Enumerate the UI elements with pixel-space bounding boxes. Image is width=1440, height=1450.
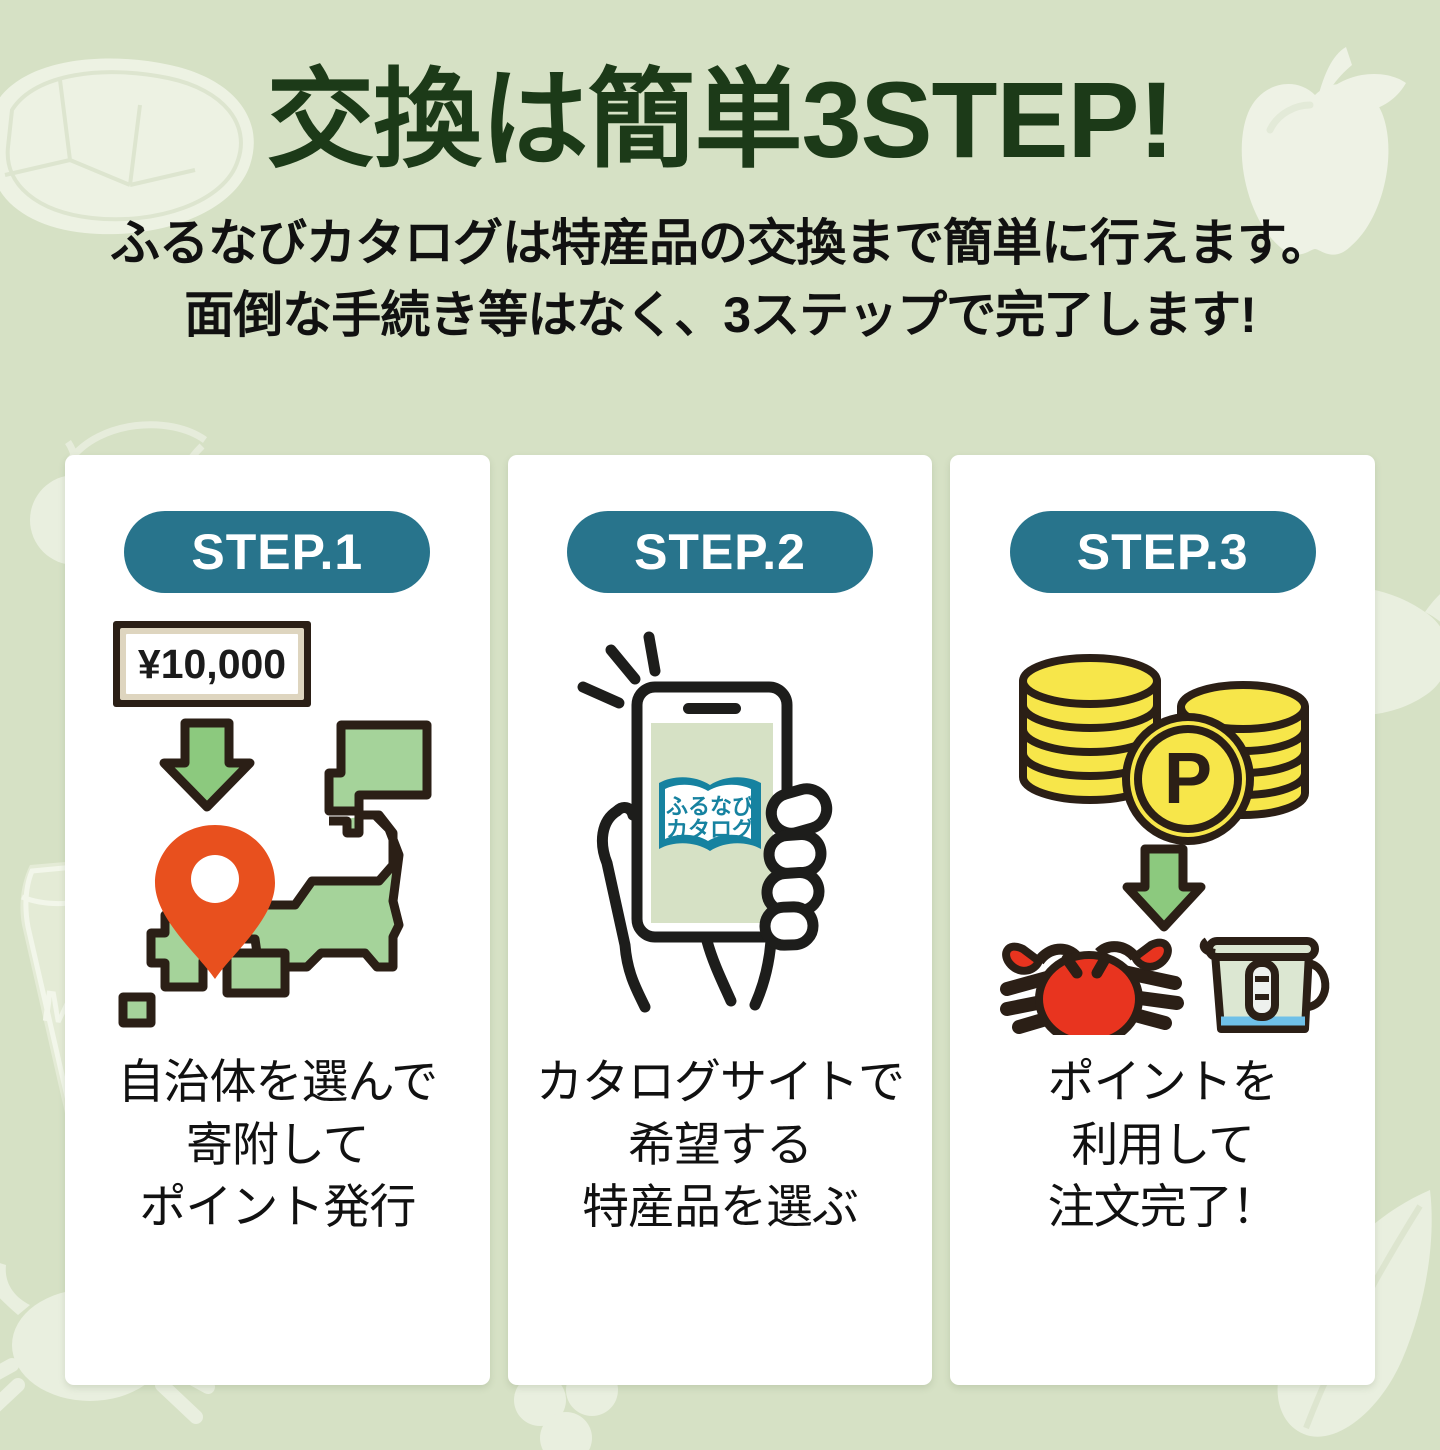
step-2-caption-line-1: カタログサイトで [536,1051,904,1114]
logo-line-2: カタログ [666,817,754,842]
crab-icon [1006,943,1177,1035]
page-title: 交換は簡単3STEP! [0,62,1440,179]
step-2-caption-line-3: 特産品を選ぶ [536,1176,904,1239]
step-card-list: STEP.1 ¥10,000 [65,455,1375,1385]
step-badge-1: STEP.1 [124,511,430,593]
step-1-caption-line-1: 自治体を選んで [118,1051,438,1114]
step-card-2[interactable]: STEP.2 [508,455,933,1385]
furunavi-catalog-logo-icon: ふるなび カタログ [659,777,761,851]
point-coin-label: P [1164,739,1212,819]
electric-kettle-icon [1203,941,1325,1029]
step-1-caption-line-3: ポイント発行 [118,1176,438,1239]
step-2-illustration: ふるなび カタログ [508,615,933,1035]
fingers-icon [764,784,831,946]
step-1-caption-line-2: 寄附して [118,1114,438,1177]
page-header: 交換は簡単3STEP! ふるなびカタログは特産品の交換まで簡単に行えます。 面倒… [0,0,1440,352]
step-3-caption-line-1: ポイントを [1048,1051,1278,1114]
down-arrow-icon [164,723,250,807]
down-arrow-icon [1127,849,1201,927]
step-badge-3: STEP.3 [1010,511,1316,593]
logo-line-1: ふるなび [666,794,754,819]
step-card-1[interactable]: STEP.1 ¥10,000 [65,455,490,1385]
step-2-caption-line-2: 希望する [536,1114,904,1177]
subtitle-line-2: 面倒な手続き等はなく、3ステップで完了します! [0,279,1440,352]
step-badge-2: STEP.2 [567,511,873,593]
step-1-caption: 自治体を選んで 寄附して ポイント発行 [118,1051,438,1239]
step-card-3[interactable]: STEP.3 [950,455,1375,1385]
banknote-icon: ¥10,000 [113,621,311,707]
svg-text:¥10,000: ¥10,000 [138,641,286,687]
step-1-illustration: ¥10,000 [65,615,490,1035]
step-3-caption-line-2: 利用して [1048,1114,1278,1177]
step-3-illustration: P [950,615,1375,1035]
step-3-caption: ポイントを 利用して 注文完了！ [1048,1051,1278,1239]
step-3-caption-line-3: 注文完了！ [1048,1176,1278,1239]
coin-stack-icon: P [1023,658,1305,841]
page-subtitle: ふるなびカタログは特産品の交換まで簡単に行えます。 面倒な手続き等はなく、3ステ… [0,207,1440,352]
subtitle-line-1: ふるなびカタログは特産品の交換まで簡単に行えます。 [0,207,1440,280]
step-2-caption: カタログサイトで 希望する 特産品を選ぶ [536,1051,904,1239]
